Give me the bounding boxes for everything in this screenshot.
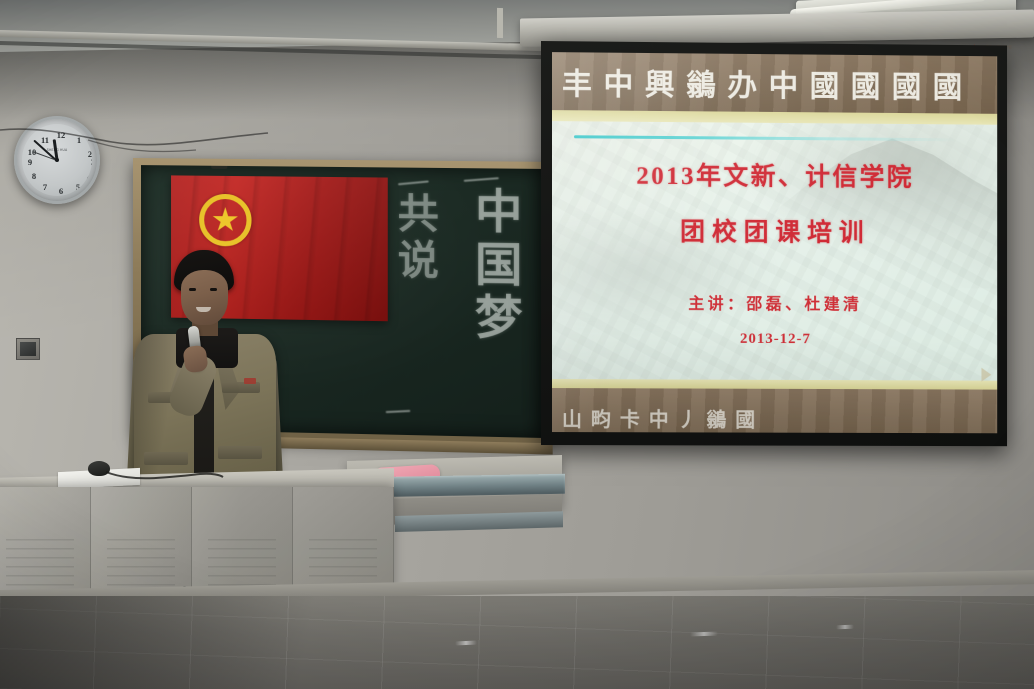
clock-numeral: 9 <box>24 157 36 167</box>
wall-light-switch[interactable] <box>16 338 40 360</box>
clock-numeral: 5 <box>72 182 84 192</box>
lecturer-hand <box>182 345 208 374</box>
wall-clock: SHENG HUA 12 1 2 3 4 5 6 7 8 9 10 11 <box>14 116 100 204</box>
slide-bottom-decoration-band: 山 畇 卡 中 丿 鶲 國 <box>552 388 997 433</box>
jacket-side-pocket <box>144 452 188 465</box>
lecturer-eye <box>210 288 217 291</box>
clock-face: SHENG HUA 12 1 2 3 4 5 6 7 8 9 10 11 <box>22 124 92 196</box>
projection-screen[interactable]: 2013年文新、计信学院 团校团课培训 主讲：邵磊、杜建清 2013-12-7 … <box>541 41 1007 446</box>
star-icon <box>212 207 238 233</box>
chalk-stroke <box>398 180 429 185</box>
slide-text-block: 2013年文新、计信学院 团校团课培训 主讲：邵磊、杜建清 2013-12-7 <box>552 163 997 349</box>
slide-top-band-glyphs: 丰 中 興 鶲 办 中 國 國 國 國 <box>552 52 997 114</box>
clock-numeral: 3 <box>87 157 92 167</box>
clock-center-pin <box>55 158 59 162</box>
clock-numeral: 12 <box>55 130 67 140</box>
lecturer-face <box>181 270 228 325</box>
conduit-clamp <box>497 8 503 38</box>
slide-bottom-band-glyphs: 山 畇 卡 中 丿 鶲 國 <box>552 388 997 433</box>
flag-circle-emblem-icon <box>199 194 251 247</box>
lecturer-eye <box>189 288 196 291</box>
slide-presenters: 主讲：邵磊、杜建清 <box>552 289 997 315</box>
chalkboard-text-right: 中国梦 <box>470 187 518 346</box>
flag-clip <box>211 165 227 169</box>
chalkboard-text-left: 共说 <box>393 192 435 286</box>
slide-title-line-1: 2013年文新、计信学院 <box>552 163 997 192</box>
clock-numeral: 7 <box>39 182 51 192</box>
clock-numeral: 11 <box>39 135 51 145</box>
slide-date: 2013-12-7 <box>552 330 997 349</box>
slide-title-line-2: 团校团课培训 <box>552 211 997 250</box>
jacket-side-pocket <box>218 446 262 459</box>
microphone-cable <box>104 468 224 486</box>
floor-shadow-overlay <box>0 596 1034 689</box>
clock-numeral: 1 <box>73 135 85 145</box>
presentation-slide: 2013年文新、计信学院 团校团课培训 主讲：邵磊、杜建清 2013-12-7 … <box>552 52 997 433</box>
chalk-stroke <box>386 410 411 413</box>
clock-numeral: 8 <box>28 171 40 181</box>
clock-numeral: 6 <box>55 186 67 196</box>
jacket-logo-tab <box>244 378 256 384</box>
clock-numeral: 4 <box>83 172 92 182</box>
slide-top-decoration-band: 丰 中 興 鶲 办 中 國 國 國 國 <box>552 52 997 114</box>
slide-body: 2013年文新、计信学院 团校团课培训 主讲：邵磊、杜建清 2013-12-7 <box>552 121 997 381</box>
projection-screen-surface: 2013年文新、计信学院 团校团课培训 主讲：邵磊、杜建清 2013-12-7 … <box>552 52 997 433</box>
clock-bezel: SHENG HUA 12 1 2 3 4 5 6 7 8 9 10 11 <box>14 116 100 204</box>
classroom-photo: MITSUBISHI SHENG HUA 12 1 2 3 4 5 6 7 8 … <box>0 0 1034 689</box>
chalk-stroke <box>464 177 499 182</box>
